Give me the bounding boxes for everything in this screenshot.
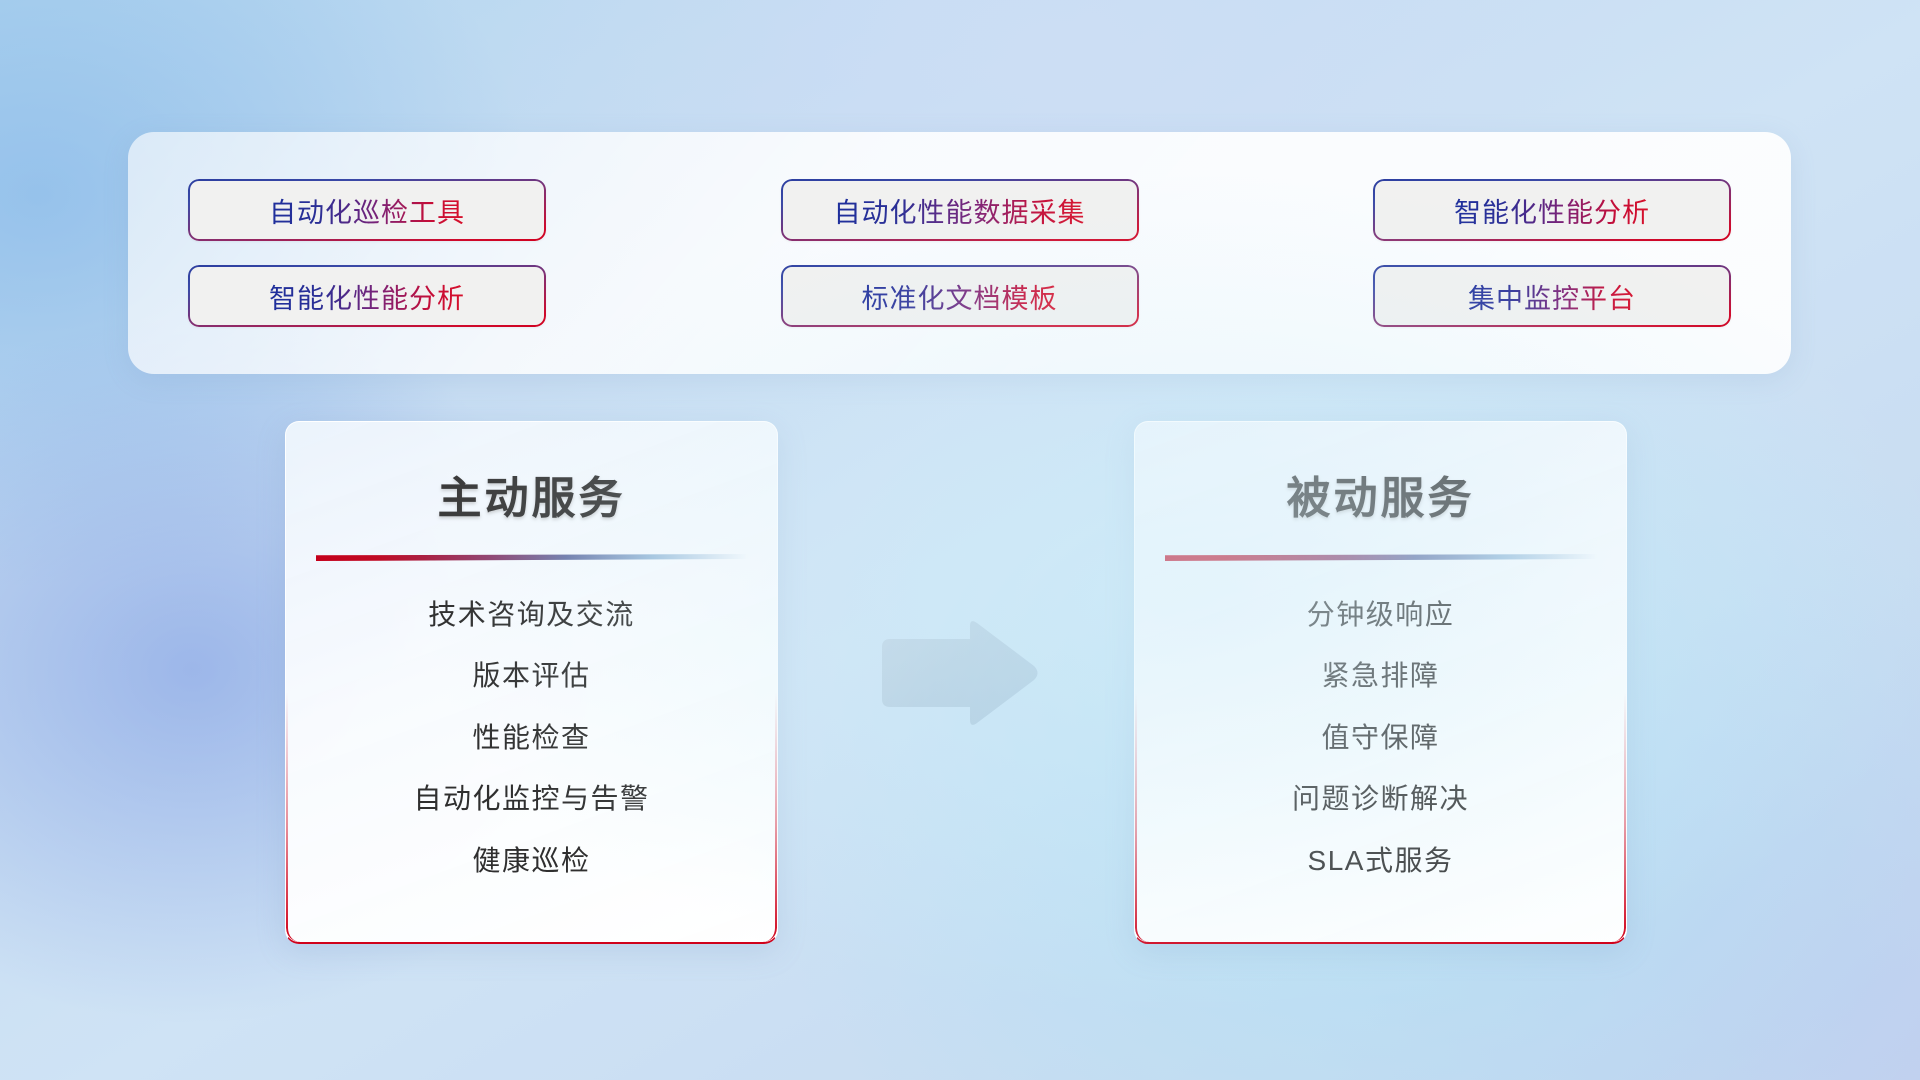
tag-label: 智能化性能分析 — [269, 277, 465, 316]
tag-label: 标准化文档模板 — [862, 277, 1058, 316]
tag-row-2: 智能化性能分析 标准化文档模板 集中监控平台 — [188, 265, 1731, 327]
tag-label: 自动化性能数据采集 — [834, 191, 1086, 230]
tag-automated-inspection-tool[interactable]: 自动化巡检工具 — [188, 179, 546, 241]
tag-label: 自动化巡检工具 — [269, 191, 465, 230]
card-divider — [316, 554, 748, 561]
tag-standardized-document-template[interactable]: 标准化文档模板 — [781, 265, 1139, 327]
list-item: 自动化监控与告警 — [413, 781, 649, 817]
list-item: 技术咨询及交流 — [428, 597, 635, 633]
capability-tags-panel: 自动化巡检工具 自动化性能数据采集 智能化性能分析 智能化性能分析 标准化文档模… — [128, 132, 1791, 374]
list-item: SLA式服务 — [1308, 843, 1454, 879]
card-divider — [1165, 554, 1597, 561]
card-item-list: 技术咨询及交流 版本评估 性能检查 自动化监控与告警 健康巡检 — [286, 597, 777, 879]
tag-centralized-monitoring-platform[interactable]: 集中监控平台 — [1373, 265, 1731, 327]
list-item: 问题诊断解决 — [1292, 781, 1469, 817]
tag-row-1: 自动化巡检工具 自动化性能数据采集 智能化性能分析 — [188, 179, 1731, 241]
card-title: 主动服务 — [286, 462, 777, 526]
list-item: 分钟级响应 — [1307, 597, 1455, 633]
slide-canvas: 自动化巡检工具 自动化性能数据采集 智能化性能分析 智能化性能分析 标准化文档模… — [0, 0, 1920, 1080]
card-item-list: 分钟级响应 紧急排障 值守保障 问题诊断解决 SLA式服务 — [1135, 597, 1626, 879]
card-title: 被动服务 — [1135, 462, 1626, 526]
tag-label: 智能化性能分析 — [1454, 191, 1650, 230]
card-proactive-service[interactable]: 主动服务 技术咨询及交流 版本评估 性能检查 自动化监控与告警 健康巡检 — [285, 421, 778, 944]
tag-label: 集中监控平台 — [1468, 277, 1636, 316]
list-item: 健康巡检 — [472, 843, 590, 879]
tag-intelligent-performance-analysis-2[interactable]: 智能化性能分析 — [188, 265, 546, 327]
card-reactive-service[interactable]: 被动服务 分钟级响应 紧急排障 值守保障 问题诊断解决 SLA式服务 — [1134, 421, 1627, 944]
tag-intelligent-performance-analysis-1[interactable]: 智能化性能分析 — [1373, 179, 1731, 241]
right-arrow-icon — [874, 618, 1040, 728]
list-item: 版本评估 — [472, 658, 590, 694]
tag-automated-performance-data-collection[interactable]: 自动化性能数据采集 — [781, 179, 1139, 241]
list-item: 值守保障 — [1321, 720, 1439, 756]
list-item: 性能检查 — [472, 720, 590, 756]
list-item: 紧急排障 — [1321, 658, 1439, 694]
